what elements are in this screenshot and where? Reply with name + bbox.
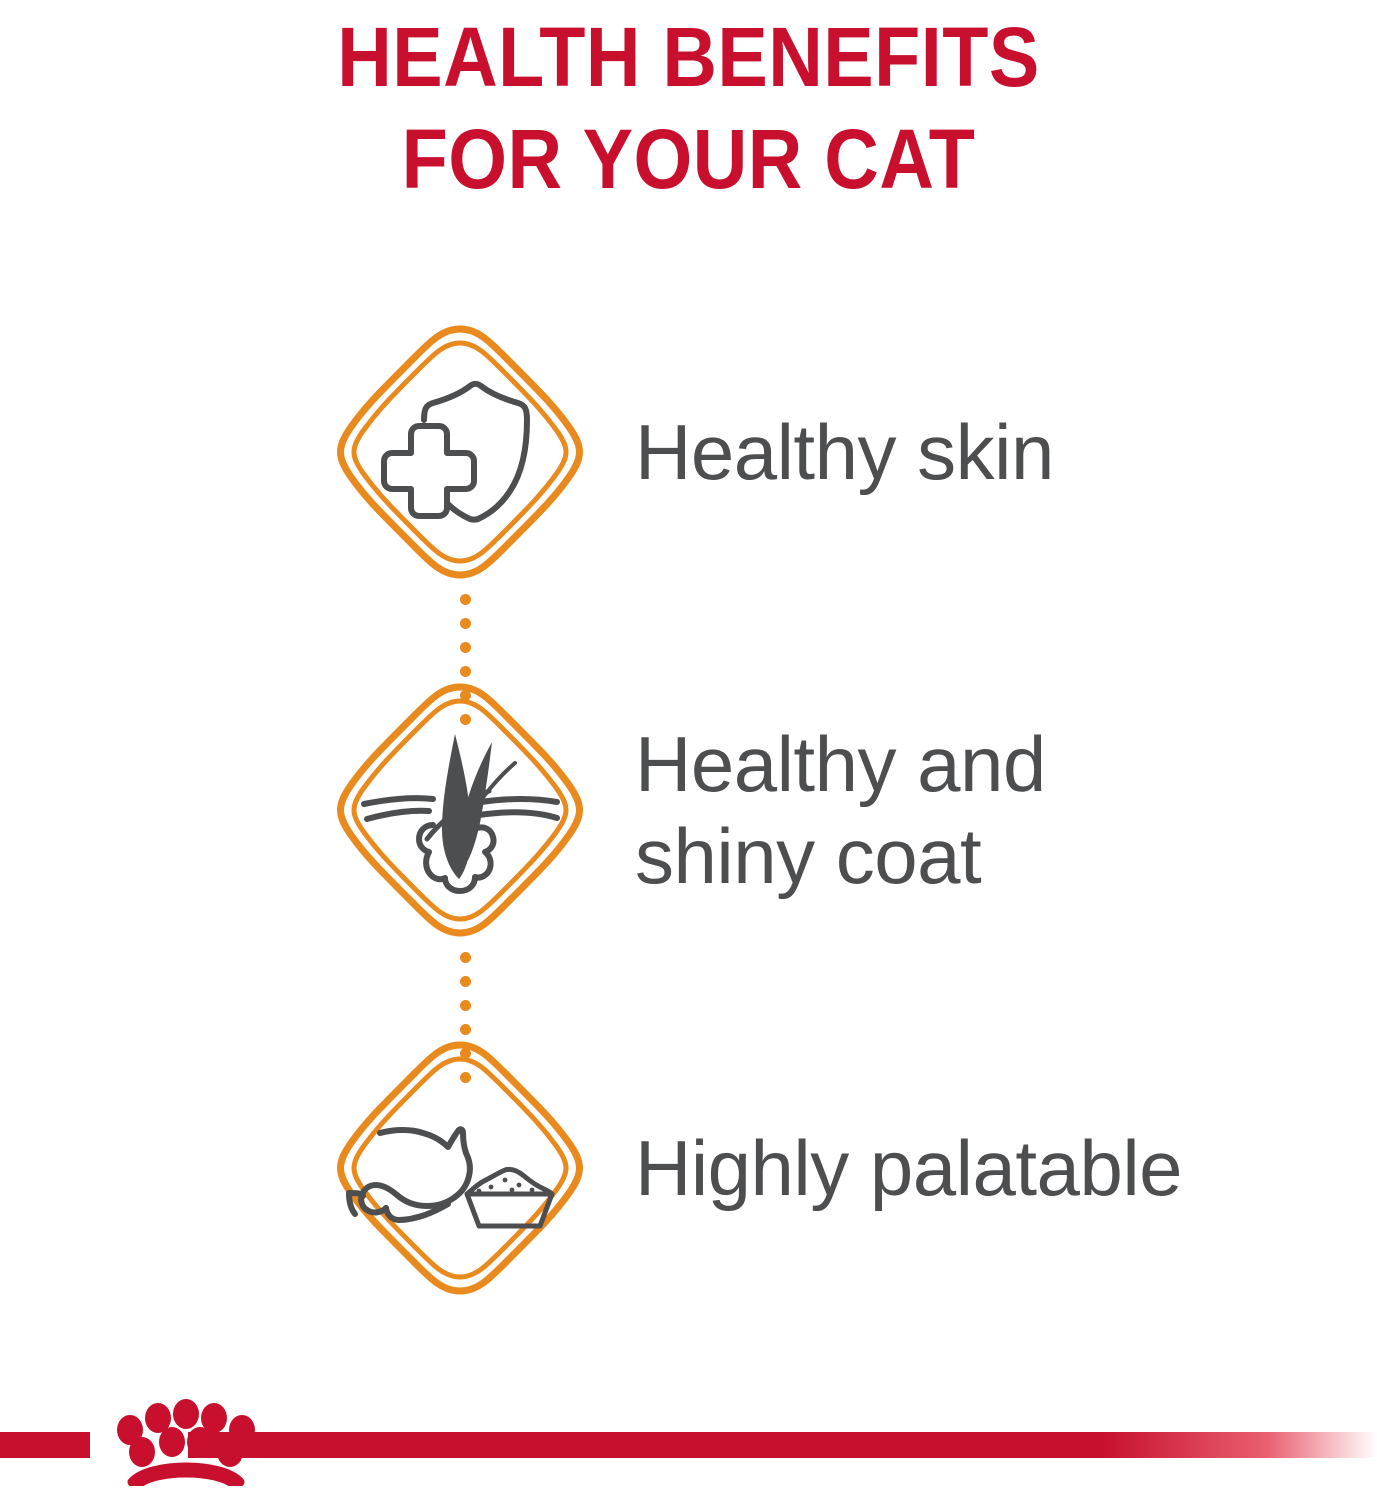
benefit-label-line-2: shiny coat (635, 810, 1377, 902)
benefit-item-healthy-skin: Healthy skin (0, 318, 1377, 586)
benefit-label-line-1: Healthy and (635, 718, 1377, 810)
benefits-list: Healthy skin (0, 318, 1377, 1302)
benefit-icon-container (315, 679, 605, 941)
benefit-item-healthy-shiny-coat: Healthy and shiny coat (0, 676, 1377, 944)
benefit-label-line-1: Highly palatable (635, 1124, 1182, 1212)
page-title-line-2: FOR YOUR CAT (69, 108, 1308, 210)
connector-dot (460, 594, 471, 605)
cat-eating-bowl-icon (329, 1037, 591, 1299)
connector-dot (460, 618, 471, 629)
benefit-item-highly-palatable: Highly palatable (0, 1034, 1377, 1302)
connector-dot (460, 642, 471, 653)
page-title-line-1: HEALTH BENEFITS (69, 6, 1308, 108)
connector-gap-1 (0, 586, 1377, 676)
benefit-label-line-1: Healthy skin (635, 408, 1054, 496)
connector-dot (460, 976, 471, 987)
page-title: HEALTH BENEFITS FOR YOUR CAT (0, 0, 1377, 211)
royal-canin-crown-logo (96, 1390, 276, 1486)
benefit-label: Healthy and shiny coat (605, 718, 1377, 902)
connector-dot (460, 1000, 471, 1011)
benefit-label: Highly palatable (605, 1122, 1377, 1214)
benefit-icon-container (315, 1037, 605, 1299)
benefit-icon-container (315, 321, 605, 583)
dotted-connector-1 (0, 586, 1377, 676)
benefit-label: Healthy skin (605, 406, 1377, 498)
dotted-connector-2 (0, 944, 1377, 1034)
connector-gap-2 (0, 944, 1377, 1034)
hair-follicle-icon (329, 679, 591, 941)
footer (0, 1380, 1377, 1500)
connector-dot (460, 952, 471, 963)
shield-cross-icon (329, 321, 591, 583)
